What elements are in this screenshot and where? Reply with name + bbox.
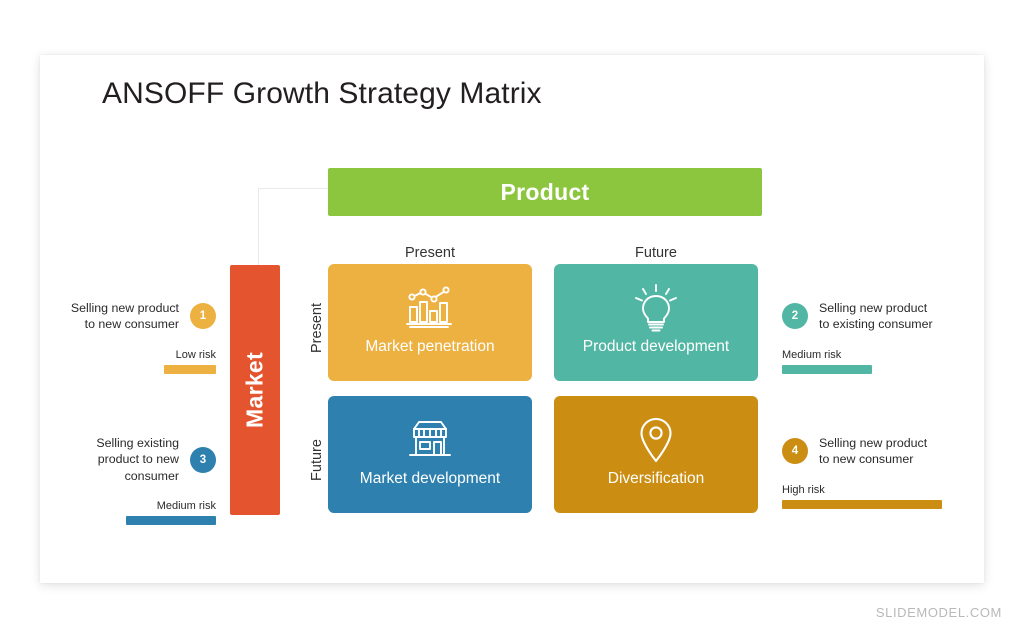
market-axis-label: Market <box>242 352 269 428</box>
storefront-icon <box>404 414 456 466</box>
annotation-4[interactable]: 4 Selling new product to new consumer Hi… <box>782 435 962 509</box>
column-header-present: Present <box>328 245 532 261</box>
risk-bar <box>782 365 872 374</box>
map-pin-icon <box>636 414 676 466</box>
annotation-2[interactable]: 2 Selling new product to existing consum… <box>782 300 962 374</box>
annotation-3[interactable]: Selling existing product to new consumer… <box>66 435 216 525</box>
row-header-future: Future <box>309 415 325 505</box>
quadrant-label: Market penetration <box>365 338 494 356</box>
bar-chart-growth-icon <box>404 282 456 334</box>
risk-label: Low risk <box>176 349 216 361</box>
quadrant-product-development[interactable]: Product development <box>554 264 758 381</box>
annotation-badge[interactable]: 1 <box>190 303 216 329</box>
annotation-description: Selling new product to existing consumer <box>819 300 933 333</box>
connector-line-horizontal <box>258 188 336 189</box>
risk-bar <box>164 365 216 374</box>
annotation-badge[interactable]: 3 <box>190 447 216 473</box>
risk-bar <box>782 500 942 509</box>
slide-canvas: ANSOFF Growth Strategy Matrix Product Ma… <box>40 55 984 583</box>
market-axis-bar[interactable]: Market <box>230 265 280 515</box>
quadrant-market-development[interactable]: Market development <box>328 396 532 513</box>
annotation-description: Selling existing product to new consumer <box>96 435 179 484</box>
quadrant-label: Diversification <box>608 470 704 488</box>
quadrant-label: Product development <box>583 338 729 356</box>
product-axis-bar[interactable]: Product <box>328 168 762 216</box>
quadrant-market-penetration[interactable]: Market penetration <box>328 264 532 381</box>
annotation-1[interactable]: Selling new product to new consumer 1 Lo… <box>66 300 216 374</box>
quadrant-label: Market development <box>360 470 500 488</box>
risk-label: High risk <box>782 484 825 496</box>
watermark: SLIDEMODEL.COM <box>876 605 1002 620</box>
quadrant-diversification[interactable]: Diversification <box>554 396 758 513</box>
annotation-description: Selling new product to new consumer <box>819 435 927 468</box>
page-title: ANSOFF Growth Strategy Matrix <box>102 77 542 111</box>
row-header-present: Present <box>309 283 325 373</box>
connector-line-vertical <box>258 188 259 266</box>
risk-bar <box>126 516 216 525</box>
column-header-future: Future <box>554 245 758 261</box>
risk-label: Medium risk <box>782 349 841 361</box>
lightbulb-icon <box>632 282 680 334</box>
annotation-badge[interactable]: 2 <box>782 303 808 329</box>
risk-label: Medium risk <box>157 500 216 512</box>
annotation-badge[interactable]: 4 <box>782 438 808 464</box>
product-axis-label: Product <box>501 179 590 206</box>
annotation-description: Selling new product to new consumer <box>71 300 179 333</box>
